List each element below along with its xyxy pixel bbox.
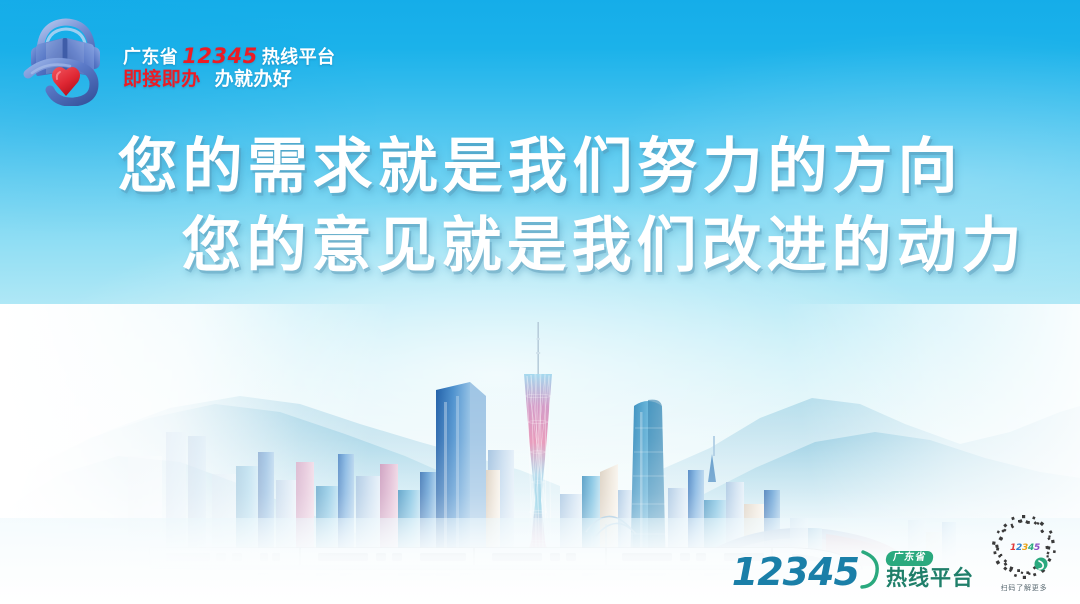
footer-platform-name: 热线平台 (886, 568, 974, 589)
brand-slogan-right: 办就办好 (215, 70, 293, 89)
qr-code-block[interactable]: 1 2 3 4 5 扫码了解更多 (982, 512, 1066, 592)
headline-line-1: 您的需求就是我们努力的方向 (0, 128, 1080, 207)
artistic-qr-code-icon[interactable]: 1 2 3 4 5 (989, 512, 1059, 582)
brand-province: 广东省 (123, 49, 178, 67)
brand-line-1: 广东省 12345 热线平台 (123, 46, 335, 67)
footer-province-badge: 广东省 (885, 551, 934, 566)
qr-caption: 扫码了解更多 (1001, 585, 1048, 592)
footer-hotline-lockup: 12345 广东省 热线平台 (732, 548, 974, 590)
headline-block: 您的需求就是我们努力的方向 您的意见就是我们改进的动力 (0, 128, 1080, 286)
svg-text:5: 5 (1034, 543, 1040, 553)
brand-platform: 热线平台 (262, 49, 336, 67)
footer-swoosh-icon (859, 548, 881, 590)
brand-hotline-number: 12345 (180, 46, 260, 67)
guangdong-12345-emblem-icon (16, 14, 114, 106)
brand-slogan-left: 即接即办 (123, 70, 201, 89)
footer-hotline-number: 12345 (732, 555, 859, 590)
brand-text-block: 广东省 12345 热线平台 即接即办 办就办好 (123, 32, 335, 89)
brand-lockup: 广东省 12345 热线平台 即接即办 办就办好 (16, 14, 335, 106)
footer-platform-block: 广东省 热线平台 (886, 551, 974, 590)
poster-canvas: 广东省 12345 热线平台 即接即办 办就办好 您的需求就是我们努力的方向 您… (0, 0, 1080, 604)
brand-line-2: 即接即办 办就办好 (123, 70, 335, 89)
canton-tower (520, 322, 556, 576)
headline-line-2: 您的意见就是我们改进的动力 (0, 207, 1080, 286)
